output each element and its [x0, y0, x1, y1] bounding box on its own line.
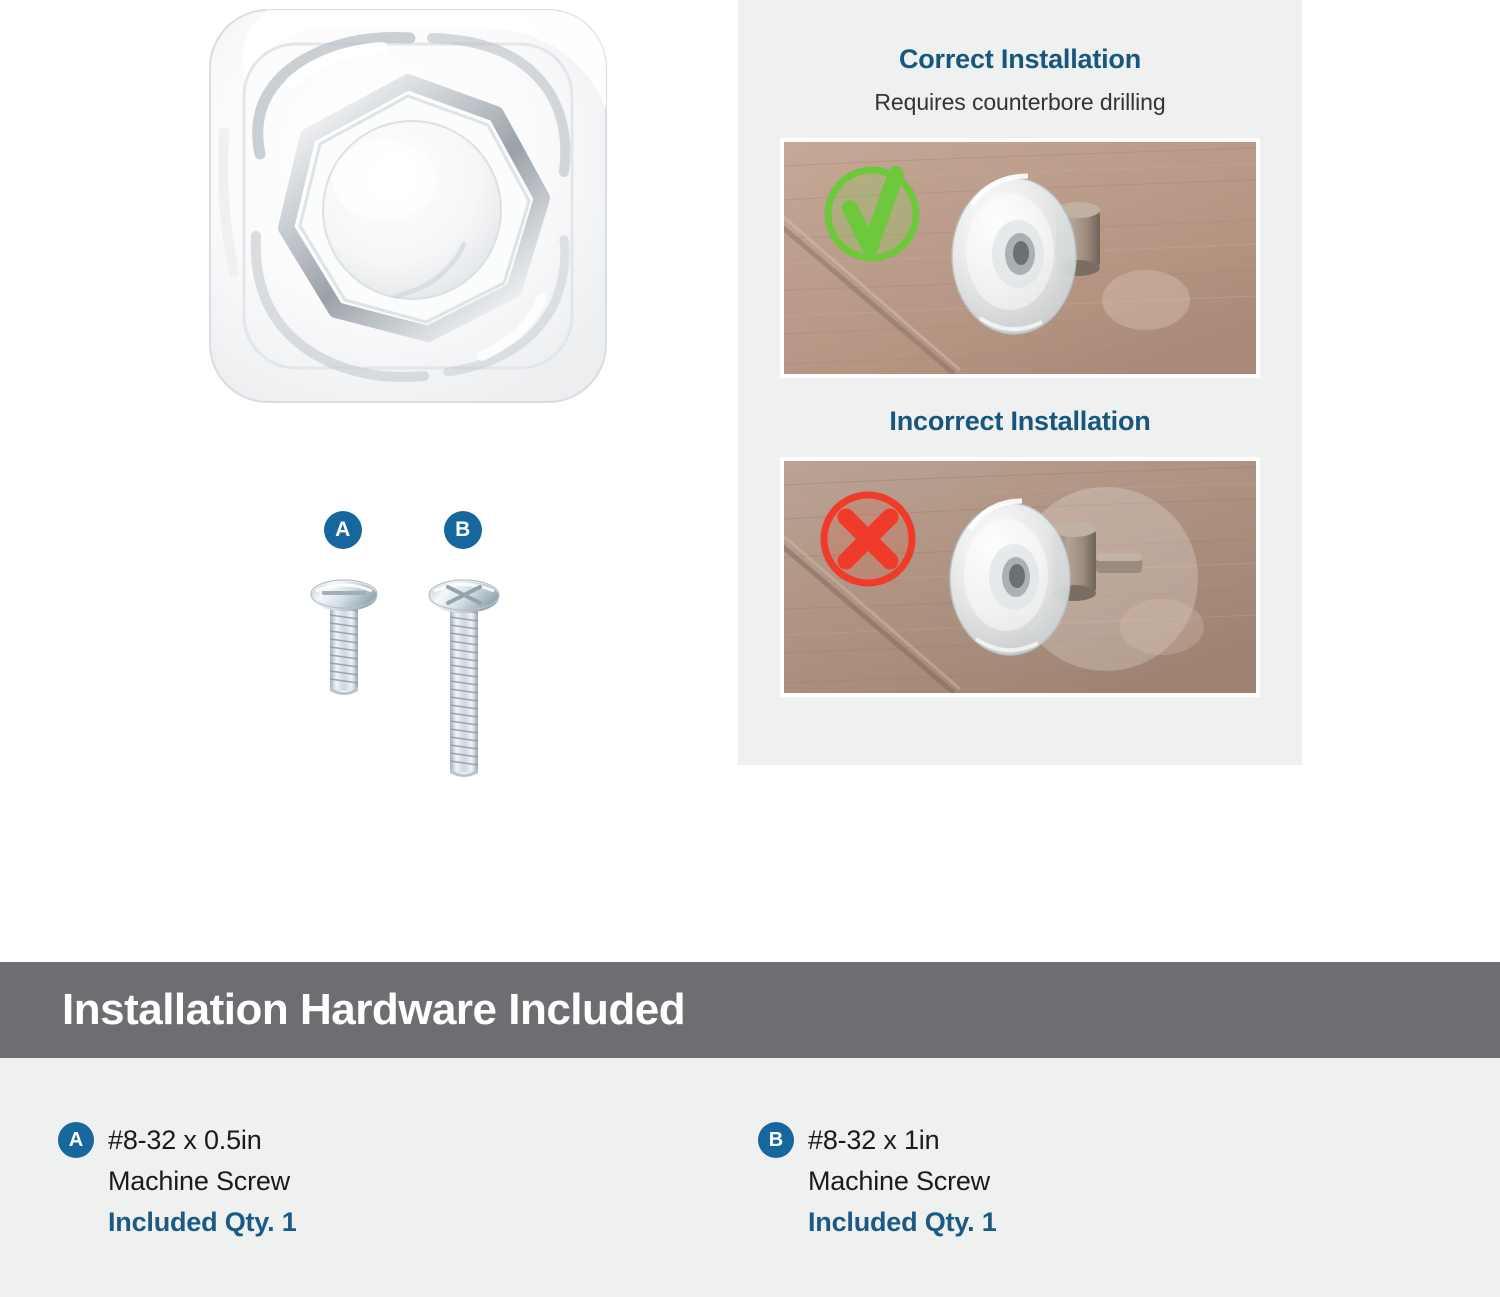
green-check-icon — [828, 170, 916, 258]
hardware-size-a: #8-32 x 0.5in — [108, 1120, 698, 1161]
banner-title: Installation Hardware Included — [62, 985, 685, 1035]
incorrect-installation-heading: Incorrect Installation — [738, 406, 1302, 437]
hardware-qty-b: Included Qty. 1 — [808, 1202, 1398, 1243]
hardware-badge-a: A — [58, 1122, 94, 1158]
correct-installation-heading: Correct Installation — [738, 44, 1302, 75]
short-machine-screw-icon — [306, 575, 382, 700]
hardware-item-a: A #8-32 x 0.5in Machine Screw Included Q… — [58, 1120, 698, 1243]
screw-badge-a: A — [324, 511, 362, 549]
screw-badge-b: B — [444, 511, 482, 549]
correct-installation-photo-frame — [780, 138, 1260, 378]
hardware-text-b: #8-32 x 1in Machine Screw Included Qty. … — [808, 1120, 1398, 1243]
incorrect-install-illustration — [784, 461, 1256, 693]
top-region: A B — [0, 0, 1500, 962]
screw-b-image — [426, 575, 502, 785]
hardware-qty-a: Included Qty. 1 — [108, 1202, 698, 1243]
screw-a-image — [306, 575, 382, 700]
glass-knob-illustration — [196, 4, 620, 408]
installation-panel: Correct Installation Requires counterbor… — [738, 0, 1302, 765]
red-x-icon — [824, 495, 912, 583]
correct-installation-subtext: Requires counterbore drilling — [738, 89, 1302, 116]
hardware-item-b: B #8-32 x 1in Machine Screw Included Qty… — [758, 1120, 1398, 1243]
correct-installation-photo — [784, 142, 1256, 374]
product-knob-photo — [196, 4, 620, 408]
hardware-badge-b: B — [758, 1122, 794, 1158]
incorrect-installation-photo — [784, 461, 1256, 693]
hardware-type-a: Machine Screw — [108, 1161, 698, 1202]
product-image-area: A B — [0, 0, 736, 962]
screw-callout-group: A B — [300, 505, 540, 795]
incorrect-installation-photo-frame — [780, 457, 1260, 697]
hardware-banner: Installation Hardware Included — [0, 962, 1500, 1058]
hardware-list-section: A #8-32 x 0.5in Machine Screw Included Q… — [0, 1058, 1500, 1297]
hardware-type-b: Machine Screw — [808, 1161, 1398, 1202]
correct-install-illustration — [784, 142, 1256, 374]
hardware-text-a: #8-32 x 0.5in Machine Screw Included Qty… — [108, 1120, 698, 1243]
hardware-size-b: #8-32 x 1in — [808, 1120, 1398, 1161]
long-machine-screw-icon — [426, 575, 502, 785]
